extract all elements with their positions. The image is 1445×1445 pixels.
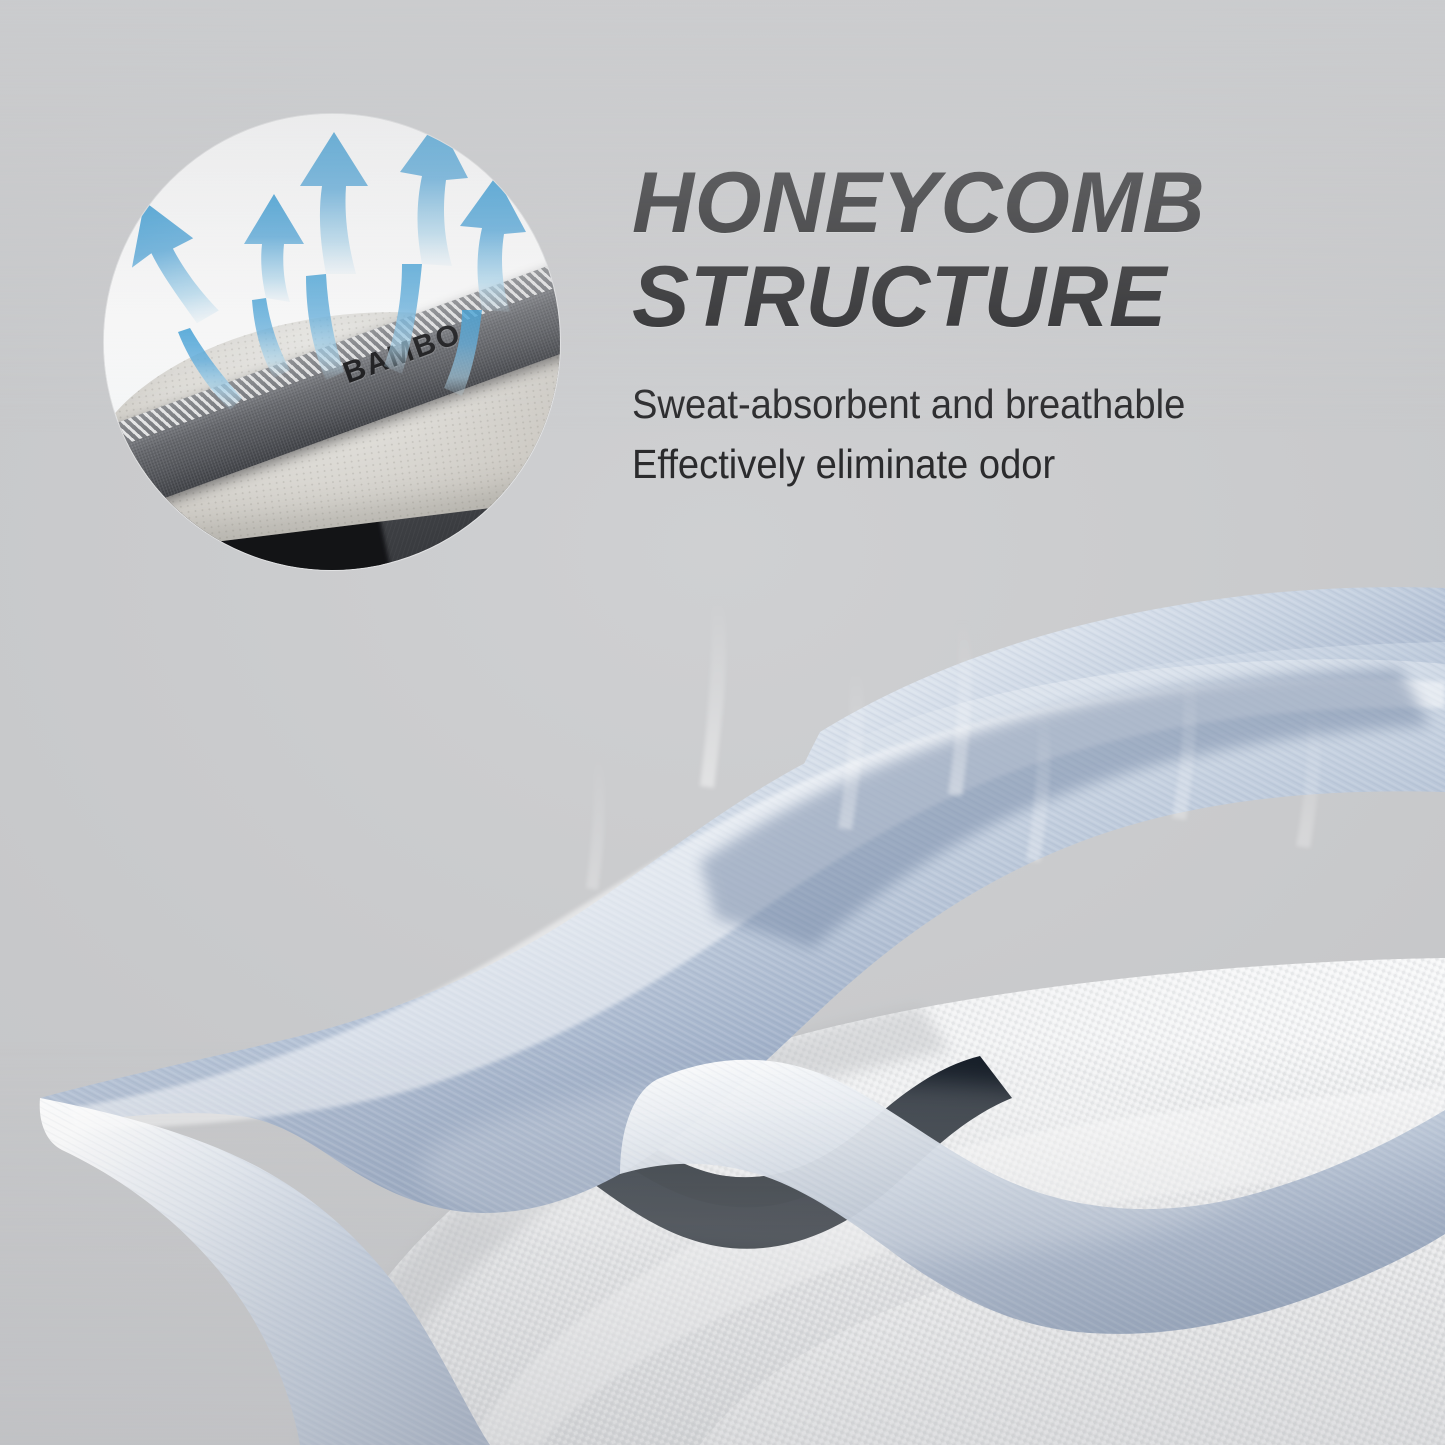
page-title-line-2: STRUCTURE	[632, 254, 1392, 342]
fabric-illustration	[0, 470, 1445, 1445]
headline-block: HONEYCOMB STRUCTURE Sweat-absorbent and …	[632, 160, 1392, 494]
page-title-line-1: HONEYCOMB	[632, 160, 1392, 248]
airflow-arrow-2	[244, 194, 304, 378]
airflow-arrow-4	[384, 120, 468, 374]
ambient-glow	[420, 1080, 1260, 1260]
airflow-arrow-3	[300, 132, 368, 380]
airflow-arrow-5	[444, 176, 526, 396]
subtitle-line-1: Sweat-absorbent and breathable	[632, 375, 1339, 434]
product-feature-image: BAMBO	[0, 0, 1445, 1445]
airflow-arrow-1	[119, 191, 242, 410]
fabric-svg	[0, 470, 1445, 1445]
